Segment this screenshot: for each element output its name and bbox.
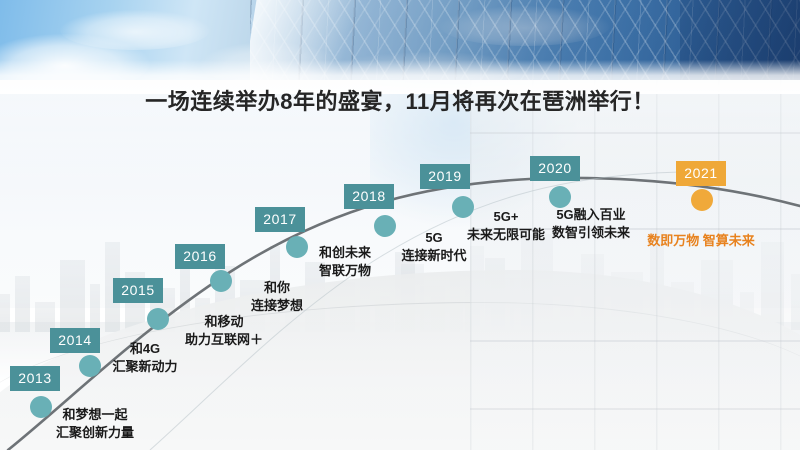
milestone-dot-2018[interactable] — [374, 215, 396, 237]
milestone-dot-2015[interactable] — [147, 308, 169, 330]
caption-line-1: 和移动 — [185, 313, 263, 331]
milestone-dot-2020[interactable] — [549, 186, 571, 208]
year-label-2014[interactable]: 2014 — [50, 328, 100, 353]
year-label-2021[interactable]: 2021 — [676, 161, 726, 186]
year-label-2019[interactable]: 2019 — [420, 164, 470, 189]
milestone-caption-2014: 和4G汇聚新动力 — [112, 340, 177, 375]
caption-line-1: 5G — [401, 229, 466, 247]
year-label-2013[interactable]: 2013 — [10, 366, 60, 391]
caption-line-1: 5G融入百业 — [552, 206, 630, 224]
caption-line-2: 连接梦想 — [251, 297, 303, 315]
milestone-caption-2016: 和你连接梦想 — [251, 279, 303, 314]
caption-line-1: 和梦想一起 — [56, 406, 134, 424]
caption-line-2: 智联万物 — [319, 262, 371, 280]
year-label-2015[interactable]: 2015 — [113, 278, 163, 303]
milestone-caption-2018: 5G连接新时代 — [401, 229, 466, 264]
caption-line-1: 和创未来 — [319, 244, 371, 262]
milestone-dot-2014[interactable] — [79, 355, 101, 377]
caption-line-2: 数智引领未来 — [552, 224, 630, 242]
timeline-curve — [0, 0, 800, 450]
caption-line-1: 数即万物 智算未来 — [647, 232, 755, 250]
caption-line-1: 和你 — [251, 279, 303, 297]
caption-line-2: 助力互联网＋ — [185, 331, 263, 349]
caption-line-2: 汇聚创新力量 — [56, 424, 134, 442]
year-label-2020[interactable]: 2020 — [530, 156, 580, 181]
milestone-dot-2016[interactable] — [210, 270, 232, 292]
caption-line-2: 连接新时代 — [401, 247, 466, 265]
caption-line-1: 和4G — [112, 340, 177, 358]
milestone-caption-2019: 5G+未来无限可能 — [467, 208, 545, 243]
milestone-dot-2021[interactable] — [691, 189, 713, 211]
year-label-2016[interactable]: 2016 — [175, 244, 225, 269]
caption-line-2: 未来无限可能 — [467, 226, 545, 244]
milestone-caption-2020: 5G融入百业数智引领未来 — [552, 206, 630, 241]
year-label-2017[interactable]: 2017 — [255, 207, 305, 232]
milestone-caption-2017: 和创未来智联万物 — [319, 244, 371, 279]
caption-line-1: 5G+ — [467, 208, 545, 226]
milestone-caption-2015: 和移动助力互联网＋ — [185, 313, 263, 348]
milestone-caption-2021: 数即万物 智算未来 — [647, 232, 755, 250]
milestone-caption-2013: 和梦想一起汇聚创新力量 — [56, 406, 134, 441]
caption-line-2: 汇聚新动力 — [112, 358, 177, 376]
milestone-dot-2013[interactable] — [30, 396, 52, 418]
milestone-dot-2017[interactable] — [286, 236, 308, 258]
slide-canvas: 一场连续举办8年的盛宴，11月将再次在琶洲举行！ 2013和梦想一起汇聚创新力量… — [0, 0, 800, 450]
year-label-2018[interactable]: 2018 — [344, 184, 394, 209]
